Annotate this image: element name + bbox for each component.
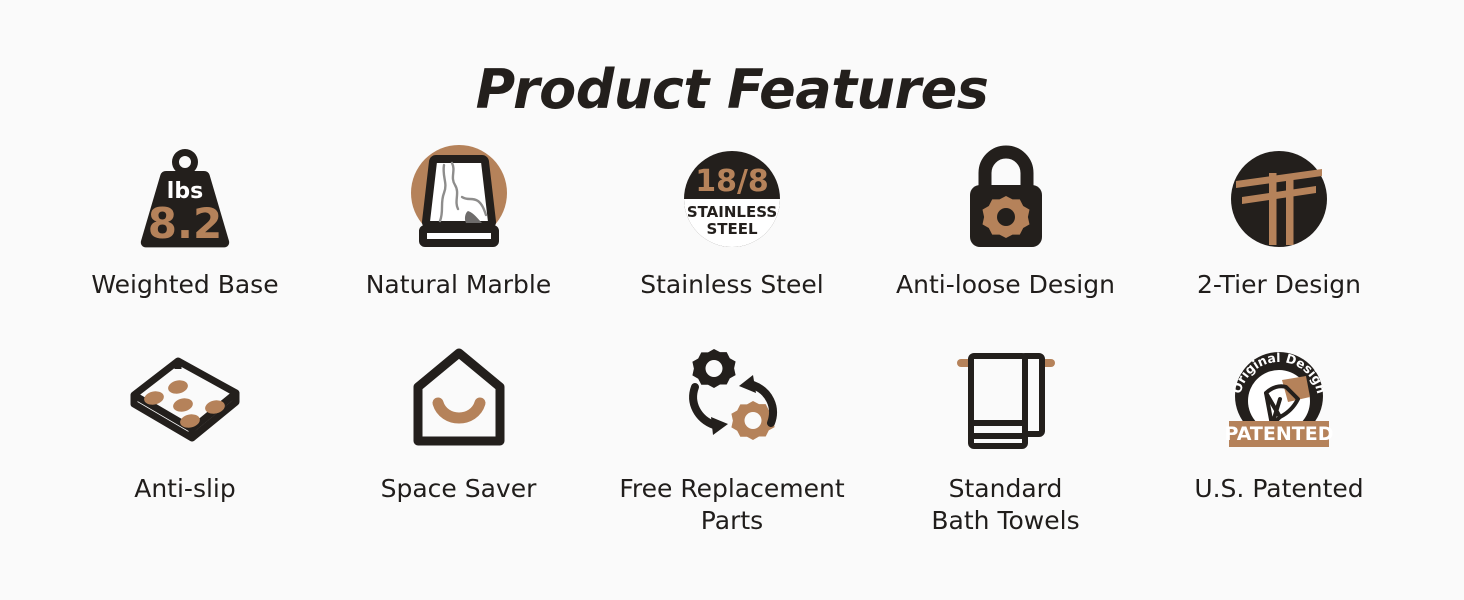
feature-label-stainless-steel: Stainless Steel (640, 269, 823, 301)
feature-two-tier-design: 2-Tier Design (1164, 141, 1394, 301)
marble-slab-icon (400, 141, 518, 259)
two-tier-shelf-icon (1220, 141, 1338, 259)
feature-label-us-patented: U.S. Patented (1194, 473, 1363, 505)
feature-free-replacement-parts: Free Replacement Parts (617, 339, 847, 537)
feature-label-natural-marble: Natural Marble (366, 269, 552, 301)
feature-label-anti-loose-design: Anti-loose Design (896, 269, 1115, 301)
feature-label-anti-slip: Anti-slip (134, 473, 236, 505)
feature-label-weighted-base: Weighted Base (91, 269, 278, 301)
feature-space-saver: Space Saver (344, 339, 574, 505)
feature-anti-loose-design: Anti-loose Design (891, 141, 1121, 301)
steel-line1-text: STAINLESS (687, 203, 777, 221)
feature-weighted-base: lbs 8.2 Weighted Base (70, 141, 300, 301)
features-grid: lbs 8.2 Weighted Base (0, 141, 1464, 537)
weight-plate-icon: lbs 8.2 (126, 141, 244, 259)
padlock-gear-icon (947, 141, 1065, 259)
feature-label-space-saver: Space Saver (381, 473, 537, 505)
feature-anti-slip: Anti-slip (70, 339, 300, 505)
features-row-1: lbs 8.2 Weighted Base (70, 141, 1394, 301)
product-features-infographic: Product Features lbs 8.2 Weighted Base (0, 0, 1464, 600)
page-title: Product Features (0, 0, 1464, 119)
anti-slip-tray-icon (126, 339, 244, 457)
stainless-steel-badge-icon: 18/8 STAINLESS STEEL (673, 141, 791, 259)
feature-label-two-tier-design: 2-Tier Design (1197, 269, 1361, 301)
feature-stainless-steel: 18/8 STAINLESS STEEL Stainless Steel (617, 141, 847, 301)
steel-grade-text: 18/8 (695, 164, 769, 199)
features-row-2: Anti-slip Space Saver (70, 339, 1394, 537)
seal-banner-text: PATENTED (1225, 423, 1334, 445)
feature-label-free-replacement-parts: Free Replacement Parts (619, 473, 844, 537)
feature-label-standard-bath-towels: Standard Bath Towels (931, 473, 1079, 537)
towel-bar-icon (947, 339, 1065, 457)
feature-natural-marble: Natural Marble (344, 141, 574, 301)
steel-line2-text: STEEL (706, 220, 758, 238)
weight-value-text: 8.2 (148, 199, 222, 248)
feature-standard-bath-towels: Standard Bath Towels (891, 339, 1121, 537)
feature-us-patented: Original Design PATENTED U.S. Patented (1164, 339, 1394, 505)
patented-seal-icon: Original Design PATENTED (1220, 339, 1338, 457)
gears-cycle-icon (673, 339, 791, 457)
house-smile-icon (400, 339, 518, 457)
